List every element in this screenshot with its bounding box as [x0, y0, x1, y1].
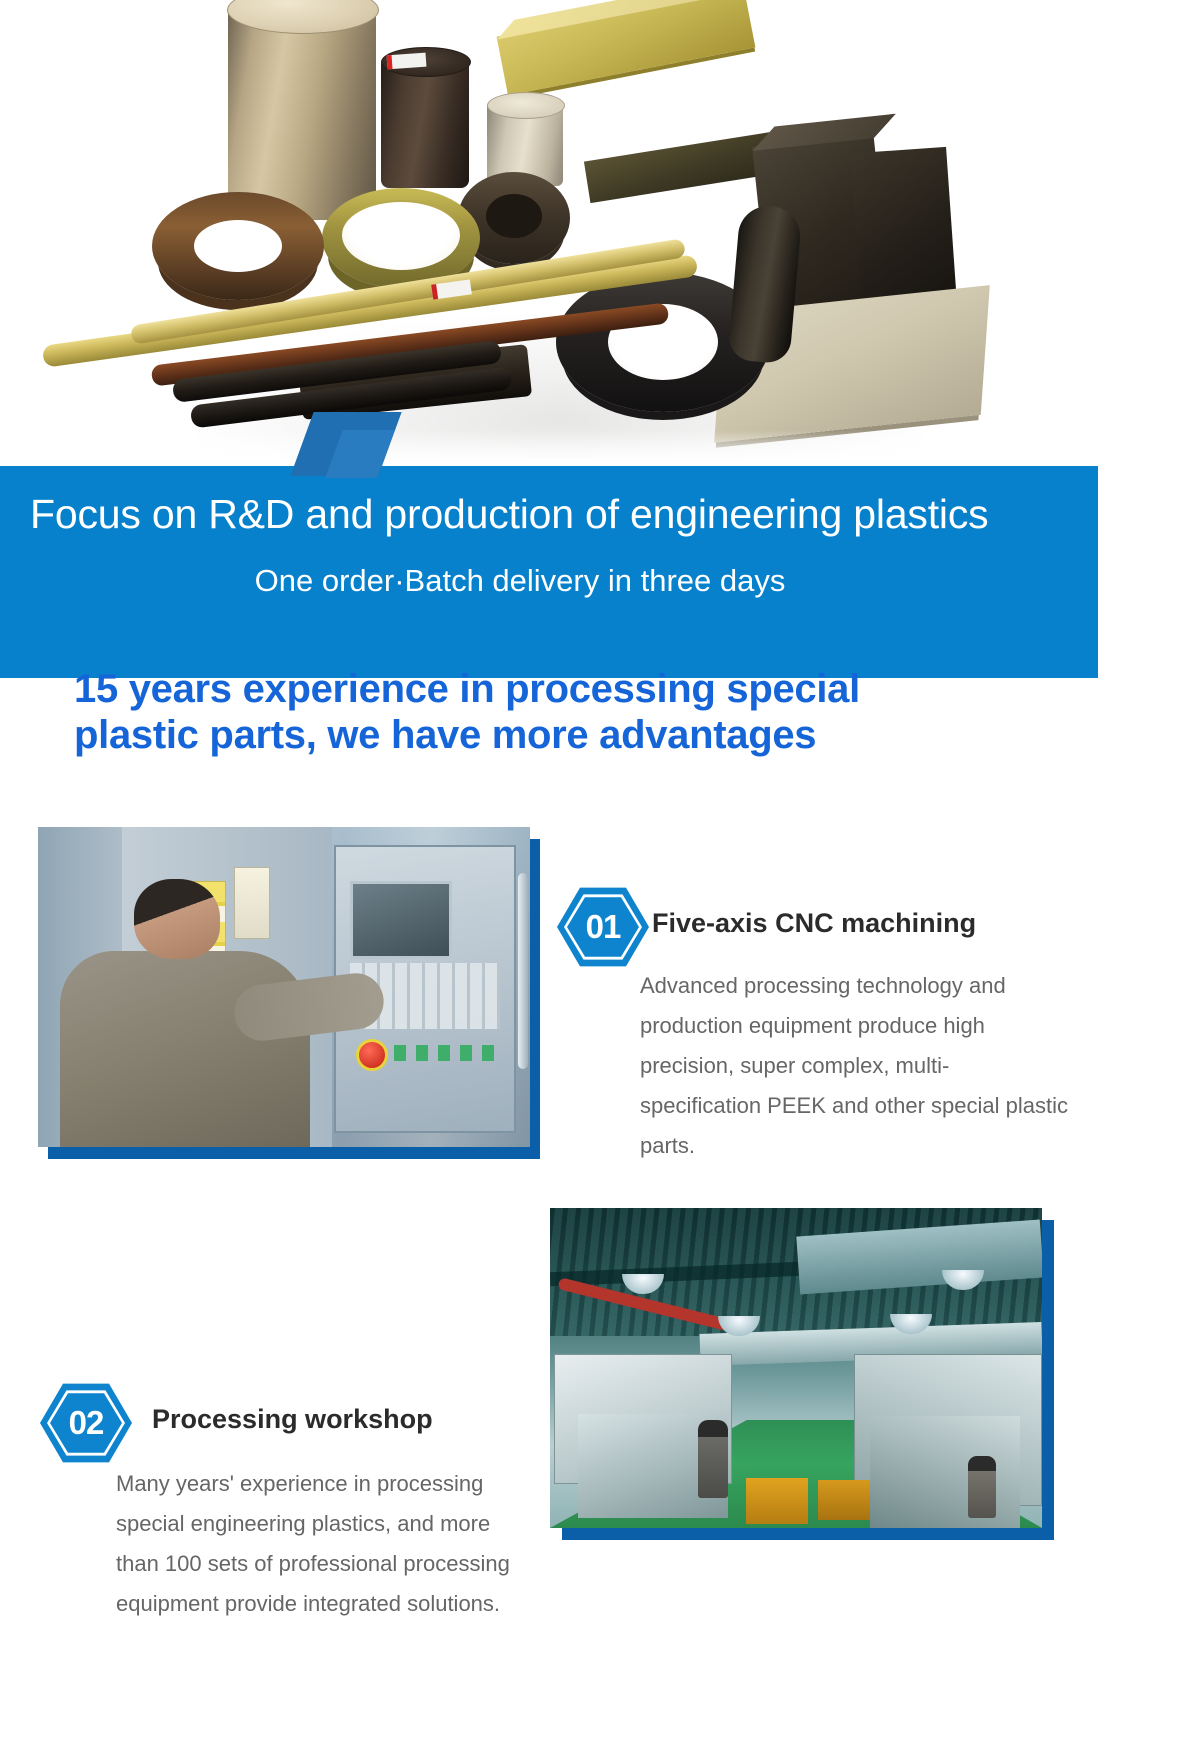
product-brown-ring: [152, 192, 324, 300]
cnc-emergency-stop-icon: [356, 1039, 388, 1071]
tagline-banner: Focus on R&D and production of engineeri…: [0, 466, 1098, 678]
cnc-indicator-lights: [394, 1045, 498, 1061]
banner-subheadline: One order·Batch delivery in three days: [0, 562, 1040, 599]
section-headline: 15 years experience in processing specia…: [74, 666, 1084, 759]
workshop-worker-2: [968, 1456, 996, 1518]
product-dark-cylinder: [381, 60, 469, 188]
hero-product-image: [0, 0, 1200, 468]
workshop-photo-frame: [550, 1208, 1042, 1528]
card-badge-01: 01: [557, 886, 649, 968]
card-title-01: Five-axis CNC machining: [652, 908, 976, 939]
cnc-operator-body: [60, 951, 310, 1147]
cnc-machining-photo: [38, 827, 530, 1147]
workshop-machine-right-2: [870, 1416, 1020, 1528]
product-tan-cylinder: [228, 8, 376, 220]
product-label-tag: [387, 53, 427, 70]
hero-bottom-fade: [0, 430, 1200, 468]
card-badge-02: 02: [40, 1382, 132, 1464]
hero-product-scene: [0, 0, 1200, 468]
product-olive-ring: [322, 188, 480, 288]
card-title-02: Processing workshop: [152, 1404, 433, 1435]
cnc-warning-label-2: [234, 867, 270, 939]
cnc-photo-frame: [38, 827, 530, 1147]
workshop-worker-1: [698, 1420, 728, 1498]
product-yellow-slab: [497, 0, 756, 95]
cnc-door-handle: [518, 873, 528, 1069]
card-body-01: Advanced processing technology and produ…: [640, 966, 1070, 1166]
banner-headline: Focus on R&D and production of engineeri…: [30, 492, 1070, 538]
workshop-cart-2: [818, 1480, 870, 1520]
card-badge-01-number: 01: [557, 886, 649, 968]
card-badge-02-number: 02: [40, 1382, 132, 1464]
section-headline-line-1: 15 years experience in processing specia…: [74, 666, 1084, 712]
cnc-operator-head: [134, 879, 220, 959]
workshop-photo: [550, 1208, 1042, 1528]
cnc-screen: [350, 881, 452, 959]
section-headline-line-2: plastic parts, we have more advantages: [74, 712, 1084, 758]
workshop-cart-1: [746, 1478, 808, 1524]
card-body-02: Many years' experience in processing spe…: [116, 1464, 536, 1624]
